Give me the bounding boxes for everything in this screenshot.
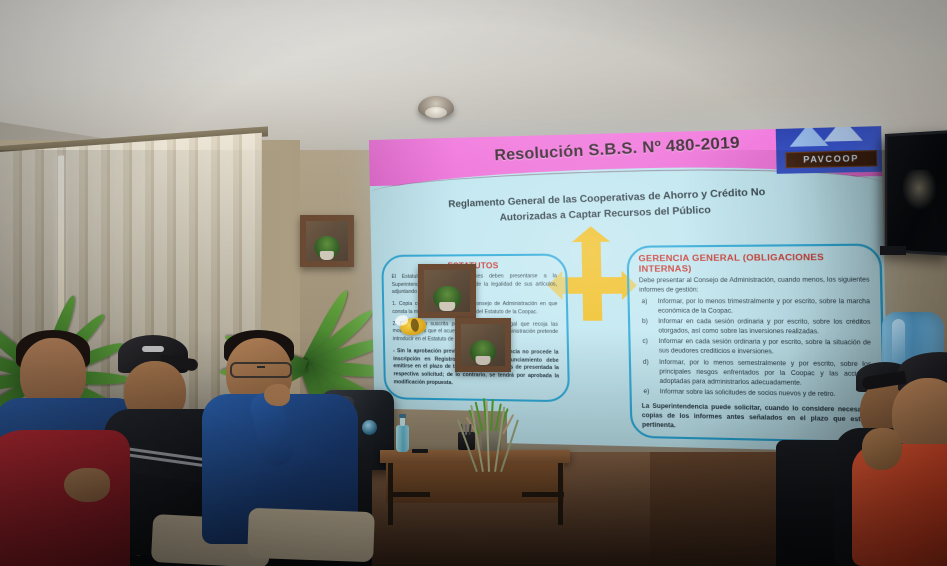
audience-person-3 <box>212 330 362 566</box>
hand <box>862 428 902 470</box>
tv-mount <box>880 246 906 255</box>
cap-logo <box>142 346 164 352</box>
projector-lens <box>362 420 377 435</box>
leg <box>247 508 375 562</box>
glasses-icon <box>230 362 292 378</box>
desk-leg <box>522 492 564 497</box>
hand <box>264 384 290 406</box>
smoke-detector-icon <box>418 96 454 118</box>
audience-person-4 <box>0 430 130 566</box>
torso <box>0 430 130 566</box>
desk-leg <box>388 492 430 497</box>
wall-tv <box>885 130 947 256</box>
glasses-icon <box>257 366 265 368</box>
meeting-room-photo: Resolución S.B.S. Nº 480-2019 PAVCOOP Re… <box>0 0 947 566</box>
audience-person-6 <box>876 352 947 566</box>
grass-plant-occluder <box>452 392 532 472</box>
mobile-phone-on-desk <box>412 449 428 453</box>
hand <box>64 468 110 502</box>
water-bottle <box>396 417 409 452</box>
